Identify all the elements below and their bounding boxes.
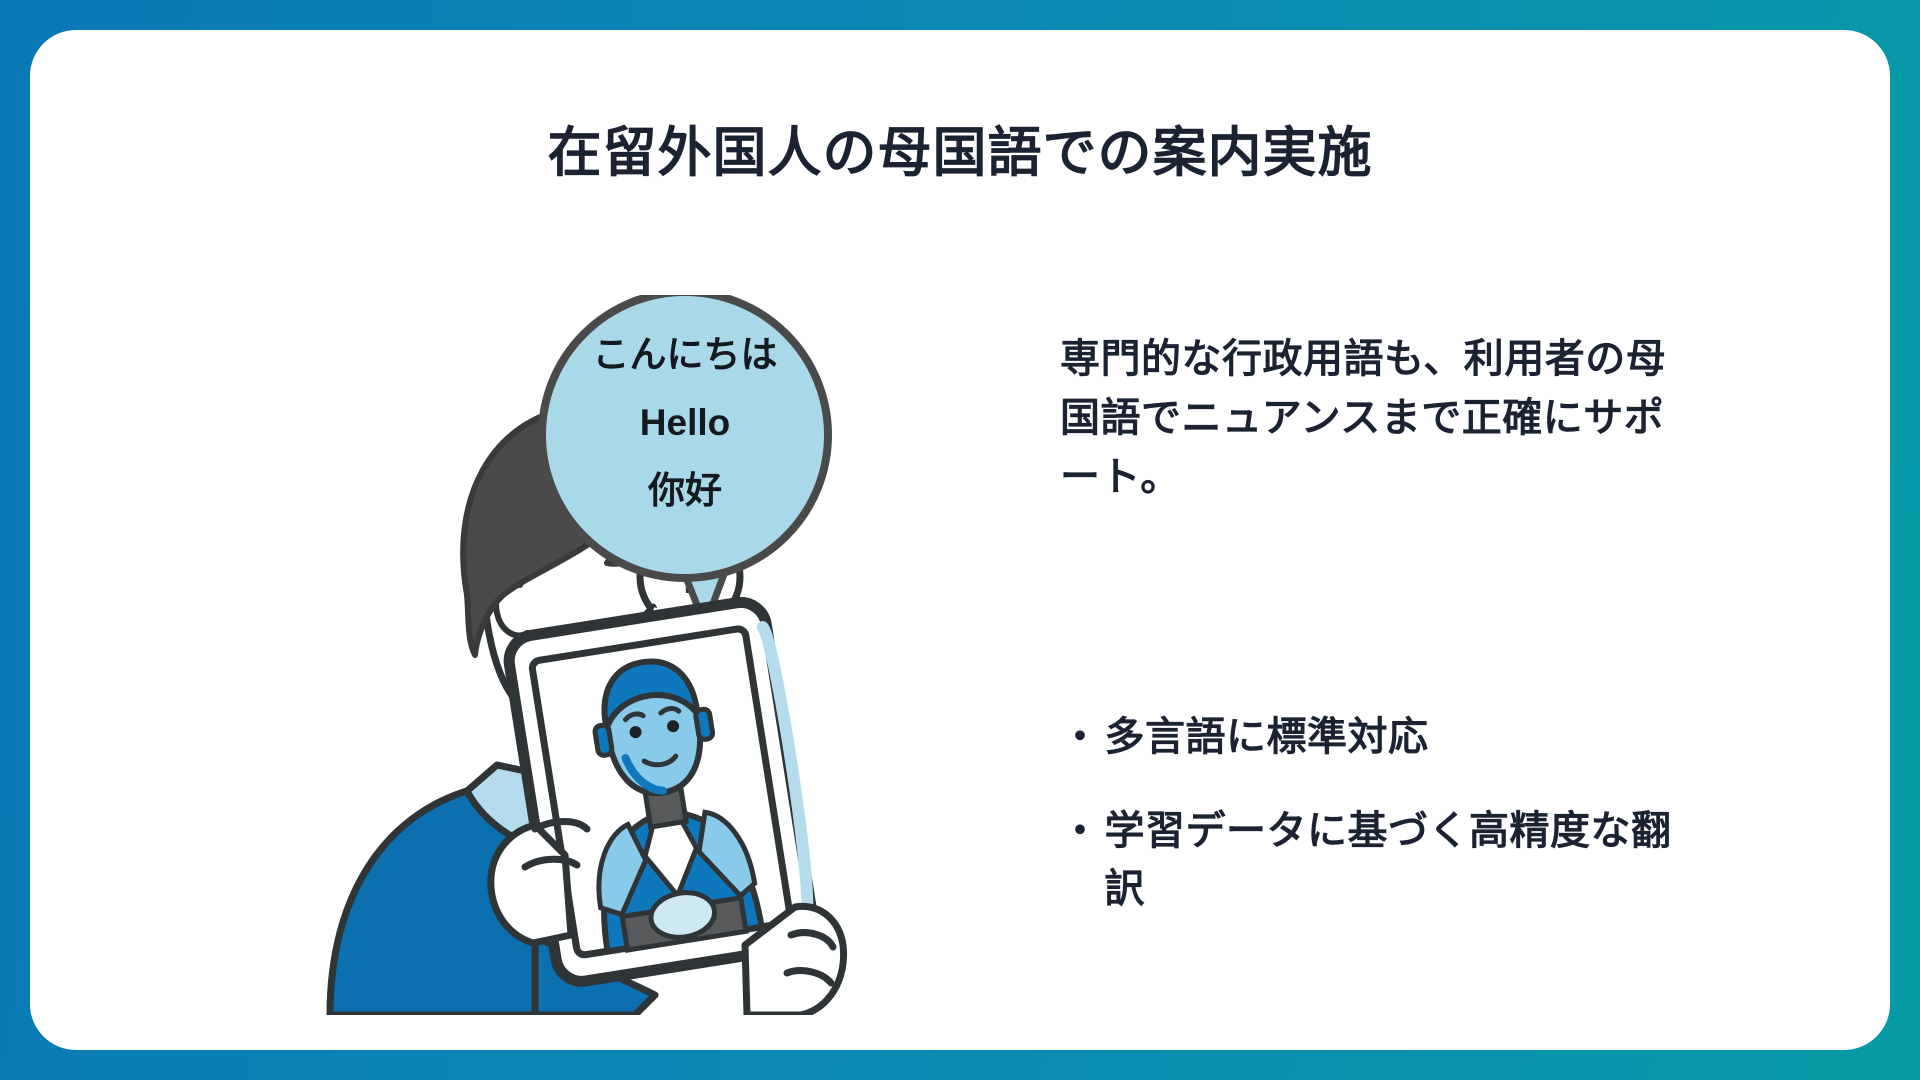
right-text-column: 専門的な行政用語も、利用者の母国語でニュアンスまで正確にサポート。 ・ 多言語に… bbox=[1060, 330, 1760, 954]
bullet-label: 多言語に標準対応 bbox=[1105, 708, 1705, 766]
speech-bubble-line-1: こんにちは bbox=[593, 334, 778, 375]
page-title: 在留外国人の母国語での案内実施 bbox=[30, 124, 1890, 183]
bullet-marker: ・ bbox=[1060, 708, 1101, 766]
slide-root: 在留外国人の母国語での案内実施 bbox=[0, 0, 1920, 1080]
content-card: 在留外国人の母国語での案内実施 bbox=[30, 30, 1890, 1050]
feature-bullet-list: ・ 多言語に標準対応 ・ 学習データに基づく高精度な翻訳 bbox=[1060, 708, 1760, 918]
illustration: ? こんにちは Hello 你好 bbox=[235, 295, 935, 1015]
speech-bubble-line-3: 你好 bbox=[647, 470, 722, 511]
lead-paragraph: 専門的な行政用語も、利用者の母国語でニュアンスまで正確にサポート。 bbox=[1060, 330, 1700, 508]
list-item: ・ 学習データに基づく高精度な翻訳 bbox=[1060, 802, 1760, 918]
bullet-marker: ・ bbox=[1060, 802, 1101, 860]
list-item: ・ 多言語に標準対応 bbox=[1060, 708, 1760, 766]
speech-bubble-line-2: Hello bbox=[640, 402, 730, 443]
bullet-label: 学習データに基づく高精度な翻訳 bbox=[1105, 802, 1705, 918]
